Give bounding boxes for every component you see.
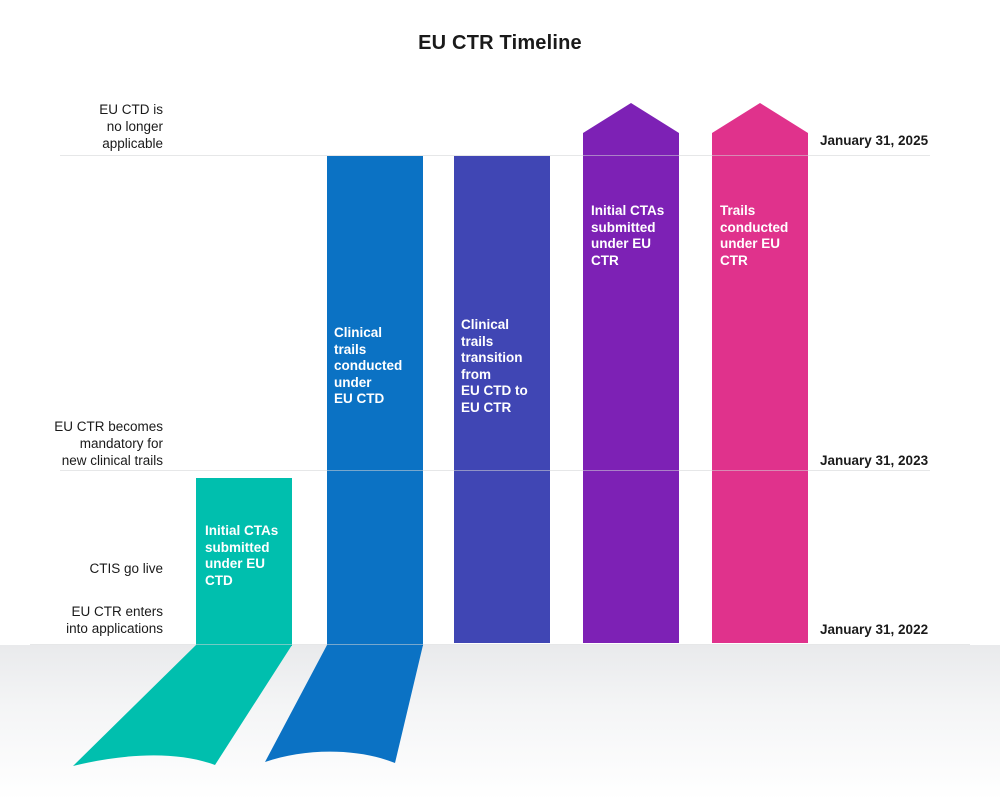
bar-shape-clinical-trails-conducted-eu-ctd[interactable] — [265, 645, 423, 763]
gridline-2025 — [60, 155, 930, 156]
bar-label-initial-ctas-eu-ctr: Initial CTAs submitted under EU CTR — [591, 203, 675, 269]
bar-label-clinical-trails-transition: Clinical trails transition from EU CTD t… — [461, 317, 547, 416]
bar-label-trails-conducted-eu-ctr: Trails conducted under EU CTR — [720, 203, 804, 269]
annotation-ctr-enters-into-applications: EU CTR enters into applications — [0, 603, 163, 637]
bar-label-clinical-trails-conducted-eu-ctd: Clinical trails conducted under EU CTD — [334, 325, 418, 408]
bar-label-initial-ctas-eu-ctd: Initial CTAs submitted under EU CTD — [205, 523, 287, 589]
page-title: EU CTR Timeline — [0, 32, 1000, 55]
date-label-2023: January 31, 2023 — [820, 453, 928, 468]
bar-shape-trails-conducted-eu-ctr[interactable] — [712, 103, 808, 643]
bar-shape-initial-ctas-eu-ctr[interactable] — [583, 103, 679, 643]
timeline-canvas: EU CTR Timeline EU CTD is no longer appl… — [0, 0, 1000, 800]
date-label-2022: January 31, 2022 — [820, 622, 928, 637]
gridline-2023 — [60, 470, 930, 471]
annotation-ctis-go-live: CTIS go live — [0, 560, 163, 577]
annotation-ctd-no-longer-applicable: EU CTD is no longer applicable — [0, 101, 163, 152]
gridline-2022 — [30, 644, 970, 645]
annotation-ctr-becomes-mandatory: EU CTR becomes mandatory for new clinica… — [0, 418, 163, 469]
date-label-2025: January 31, 2025 — [820, 133, 928, 148]
